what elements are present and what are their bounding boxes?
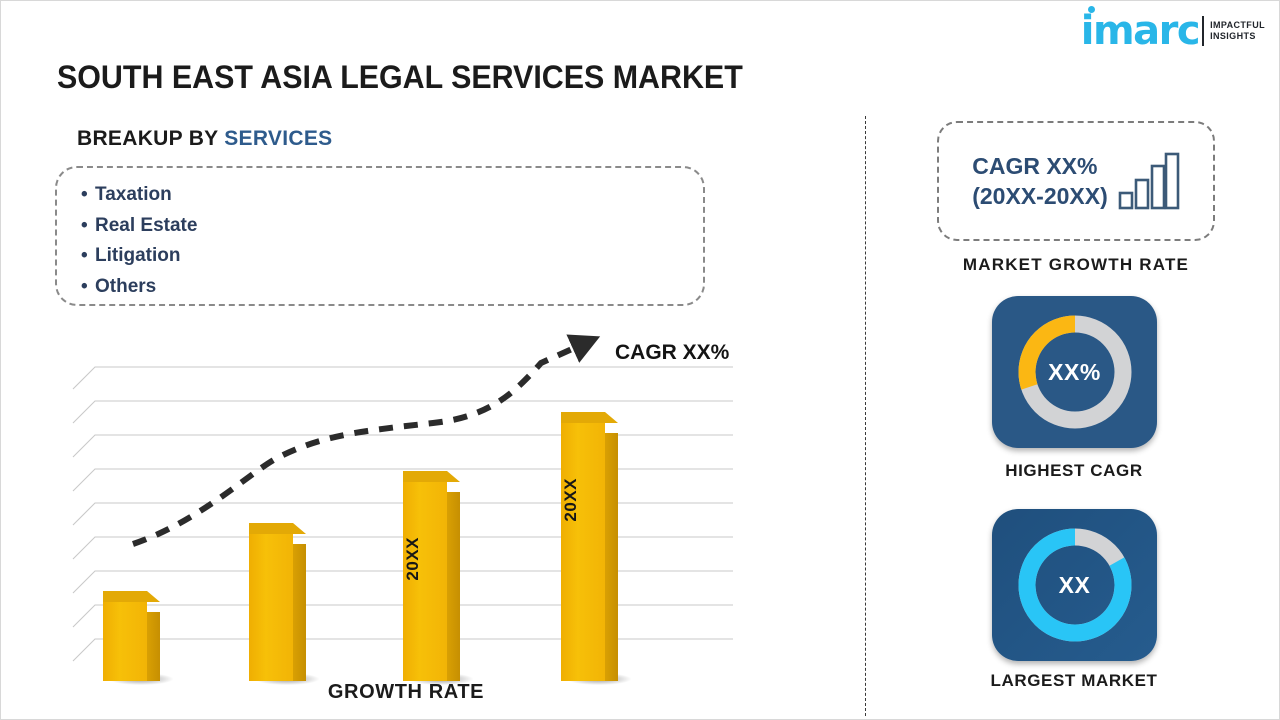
highest-cagr-card: XX% xyxy=(992,296,1157,448)
bar-front-face xyxy=(403,481,447,681)
chart-x-axis-label: GROWTH RATE xyxy=(61,681,751,704)
bar-top-face xyxy=(103,591,147,602)
logo-tagline-line2: INSIGHTS xyxy=(1210,31,1265,43)
services-list-box: •Taxation •Real Estate •Litigation •Othe… xyxy=(55,166,705,306)
imarc-logo: imarc IMPACTFUL INSIGHTS xyxy=(1081,9,1265,53)
highest-cagr-caption: HIGHEST CAGR xyxy=(899,461,1249,481)
list-item: •Taxation xyxy=(81,180,703,211)
largest-market-caption: LARGEST MARKET xyxy=(899,671,1249,691)
cagr-value-text: CAGR XX% (20XX-20XX) xyxy=(972,151,1108,211)
bar-value-label: 20XX xyxy=(403,537,447,581)
chart-bars: 20XX20XX xyxy=(61,331,751,681)
cagr-line-1: CAGR XX% xyxy=(972,151,1108,181)
highest-cagr-value: XX% xyxy=(992,296,1157,448)
bar-side-face xyxy=(605,433,618,681)
bullet-icon: • xyxy=(81,180,95,211)
market-growth-rate-label: MARKET GROWTH RATE xyxy=(901,255,1251,275)
breakup-heading: BREAKUP BY SERVICES xyxy=(77,127,332,151)
logo-wordmark-text: imarc xyxy=(1081,8,1199,54)
bar-side-face xyxy=(447,492,460,681)
bar-front-face xyxy=(249,533,293,681)
largest-market-card: XX xyxy=(992,509,1157,661)
logo-tagline-line1: IMPACTFUL xyxy=(1210,20,1265,32)
service-label: Others xyxy=(95,276,156,297)
infographic-slide: imarc IMPACTFUL INSIGHTS SOUTH EAST ASIA… xyxy=(0,0,1280,720)
bar-top-face xyxy=(403,471,447,482)
largest-market-value: XX xyxy=(992,509,1157,661)
service-label: Litigation xyxy=(95,245,180,266)
bullet-icon: • xyxy=(81,272,95,303)
bar-side-face xyxy=(147,612,160,681)
bar-value-label: 20XX xyxy=(561,478,605,522)
bullet-icon: • xyxy=(81,211,95,242)
cagr-line-2: (20XX-20XX) xyxy=(972,181,1108,211)
bar-top-face xyxy=(561,412,605,423)
logo-tagline: IMPACTFUL INSIGHTS xyxy=(1210,20,1265,43)
service-label: Real Estate xyxy=(95,215,197,236)
logo-wordmark: imarc xyxy=(1081,11,1199,51)
bullet-icon: • xyxy=(81,241,95,272)
logo-divider xyxy=(1202,16,1204,46)
logo-dot-icon xyxy=(1088,6,1095,13)
bar-top-face xyxy=(249,523,293,534)
panel-divider xyxy=(865,116,866,716)
bar-chart-icon xyxy=(1118,152,1180,210)
bar-front-face xyxy=(561,422,605,681)
growth-rate-bar-chart: 20XX20XX CAGR XX% xyxy=(61,331,751,681)
bar-side-face xyxy=(293,544,306,681)
service-label: Taxation xyxy=(95,184,172,205)
bar-front-face xyxy=(103,601,147,681)
page-title: SOUTH EAST ASIA LEGAL SERVICES MARKET xyxy=(57,59,743,96)
list-item: •Others xyxy=(81,272,703,303)
list-item: •Litigation xyxy=(81,241,703,272)
market-growth-rate-box: CAGR XX% (20XX-20XX) xyxy=(937,121,1215,241)
list-item: •Real Estate xyxy=(81,211,703,242)
breakup-heading-accent: SERVICES xyxy=(224,127,332,150)
cagr-chart-annotation: CAGR XX% xyxy=(615,341,729,365)
breakup-heading-prefix: BREAKUP BY xyxy=(77,127,224,150)
